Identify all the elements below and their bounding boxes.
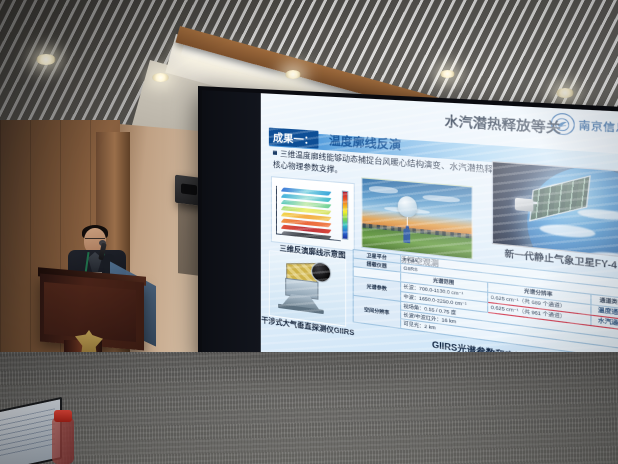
radiosonde-photo [361,177,472,260]
beverage-bottle [52,418,74,464]
downlight-icon [152,73,169,82]
bullet-square-icon [273,151,277,155]
downlight-icon [36,54,56,65]
slide-headline-right: 水汽潜热释放等关 [445,111,561,137]
carpet-floor [0,352,618,464]
carpet-texture [0,352,618,464]
chart-colorbar [342,191,348,240]
weather-balloon-icon [398,195,417,217]
cloud-shape [540,223,596,240]
downlight-icon [556,88,574,98]
university-logo-text: 南京信息工程大学 [579,117,618,138]
screen-unlit-area [202,90,261,368]
cloud-shape [577,208,618,222]
downlight-icon [285,70,301,79]
cloud-shape [423,194,460,203]
bottle-cap [54,410,72,422]
laptop-screen-content [0,408,55,458]
profile-3d-chart [271,176,355,251]
chart-y-axis [276,186,277,234]
slide-title-tag: 成果一： [269,128,319,149]
cloud-shape [369,185,398,194]
satellite-photo [492,161,618,258]
downlight-icon [440,70,455,78]
presentation-room-photo: 南京信息工程大学 水汽潜热释放等关 成果一： 温度廓线反演 三维温度廓线能够动态… [0,0,618,464]
satellite-body-icon [515,198,533,212]
projector-lens-icon [181,183,197,195]
table-row-label: 空间分辨率 [353,295,400,328]
giirs-instrument-photo [269,250,346,327]
person-figure [403,228,410,243]
